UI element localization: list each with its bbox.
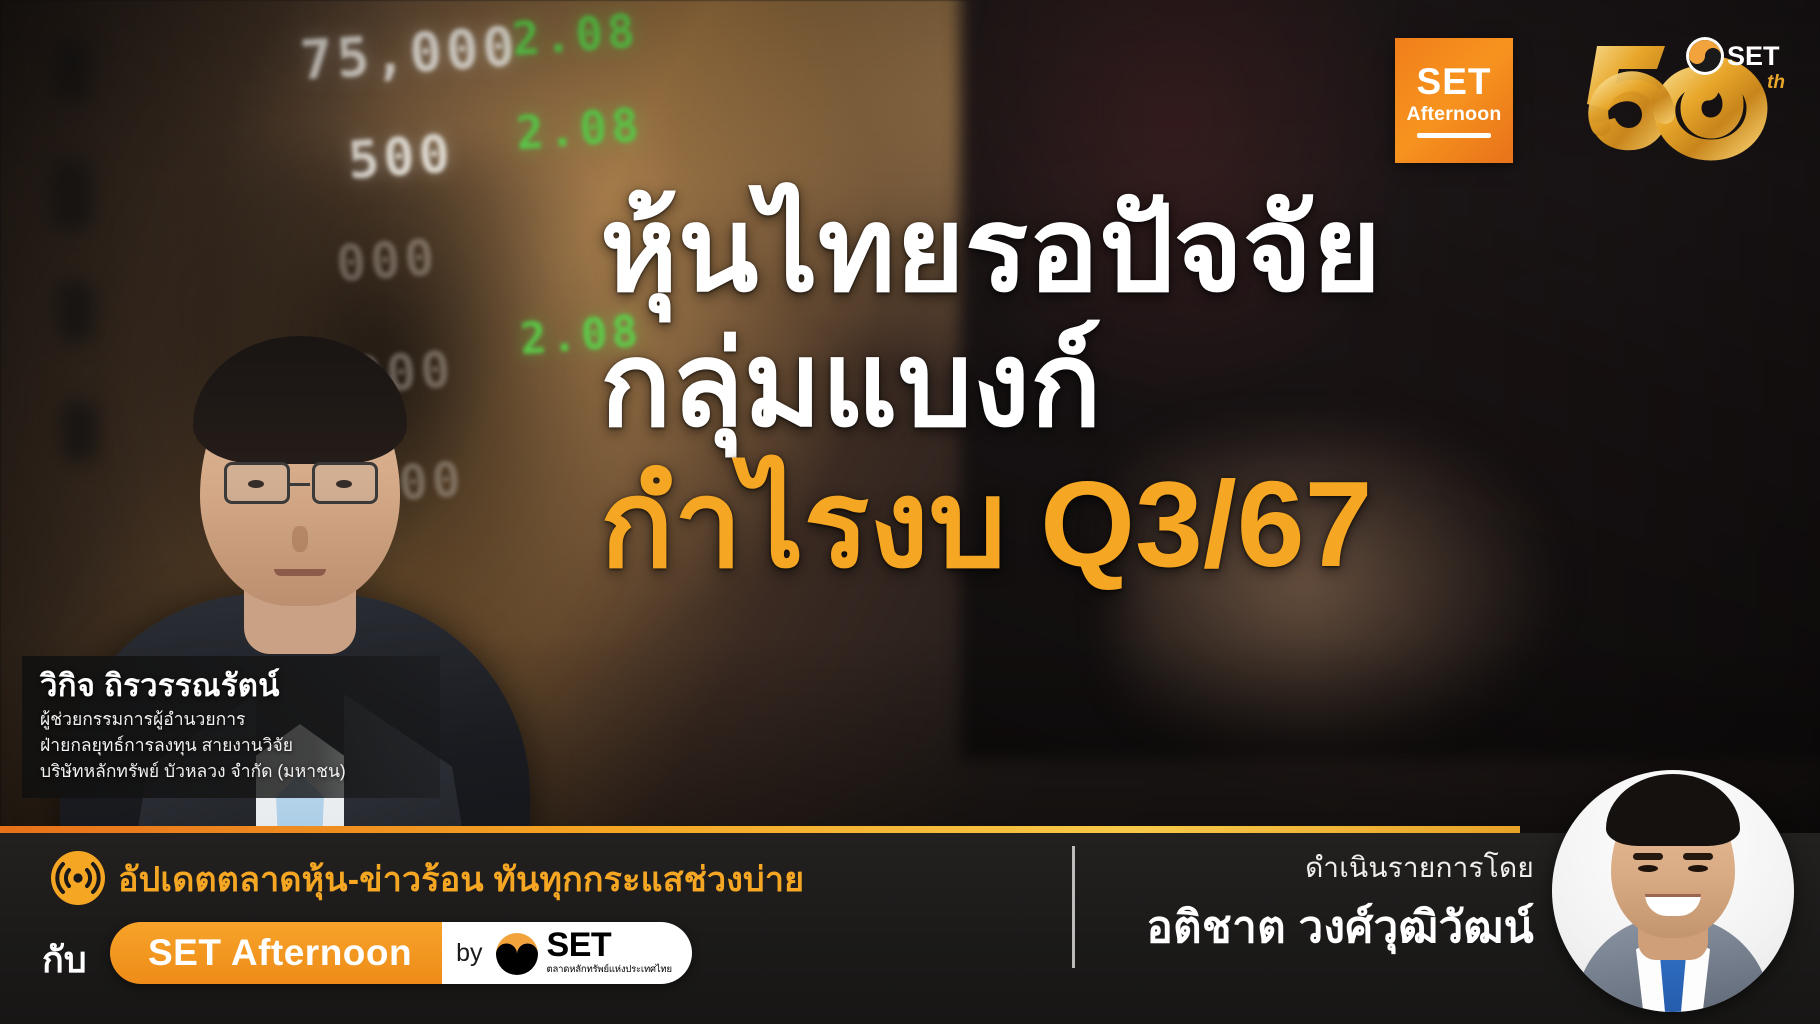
avatar-brow-left xyxy=(1633,853,1663,860)
headline-line-3: กำไรงบ Q3/67 xyxy=(600,460,1780,589)
set-attribution: by SET ตลาดหลักทรัพย์แห่งประเทศไทย xyxy=(442,922,692,984)
speaker-mouth xyxy=(274,569,326,576)
footer-gold-divider xyxy=(0,826,1520,833)
speaker-hair xyxy=(193,336,407,464)
avatar-eye-left xyxy=(1638,865,1658,872)
promo-graphic-canvas: 75,000 500 000 000 000 2.08 2.08 2.08 วิ… xyxy=(0,0,1820,1024)
svg-text:SET: SET xyxy=(1727,41,1780,71)
with-label: กับ xyxy=(42,931,87,988)
headline-line-1: หุ้นไทยรอปัจจัย xyxy=(600,188,1780,313)
host-avatar xyxy=(1552,770,1794,1012)
glasses-lens-right-icon xyxy=(312,462,378,504)
program-name: SET Afternoon xyxy=(148,932,412,974)
speaker-role-line-2: ฝ่ายกลยุทธ์การลงทุน สายงานวิจัย xyxy=(40,734,424,757)
host-by-label: ดำเนินรายการโดย xyxy=(1146,846,1534,890)
set-50th-anniversary-logo: SET th xyxy=(1545,22,1795,172)
program-name-badge: SET Afternoon xyxy=(110,922,442,984)
broadcast-wave-glyph xyxy=(50,850,106,906)
speaker-nose xyxy=(292,526,308,552)
speaker-nameplate: วิกิจ ถิรวรรณรัตน์ ผู้ช่วยกรรมการผู้อำนว… xyxy=(22,656,440,798)
svg-text:th: th xyxy=(1767,72,1785,93)
anniversary-50-icon: SET th xyxy=(1545,22,1795,172)
speaker-role-line-3: บริษัทหลักทรัพย์ บัวหลวง จำกัด (มหาชน) xyxy=(40,760,424,783)
set-afternoon-logo-rule xyxy=(1417,133,1491,138)
set-afternoon-logo: SET Afternoon xyxy=(1395,38,1513,163)
set-logo-subtitle: ตลาดหลักทรัพย์แห่งประเทศไทย xyxy=(547,962,672,977)
host-block: ดำเนินรายการโดย อติชาต วงศ์วุฒิวัฒน์ xyxy=(1146,846,1534,962)
speaker-role-line-1: ผู้ช่วยกรรมการผู้อำนวยการ xyxy=(40,708,424,731)
set-logo: SET ตลาดหลักทรัพย์แห่งประเทศไทย xyxy=(492,929,672,977)
set-afternoon-logo-set: SET xyxy=(1417,63,1492,100)
set-logo-wordmark: SET xyxy=(547,929,612,961)
speaker-name: วิกิจ ถิรวรรณรัตน์ xyxy=(40,668,424,705)
program-badge[interactable]: SET Afternoon by SET ตลาดหลักทรัพย์แห่งป… xyxy=(110,922,692,984)
glasses-bridge-icon xyxy=(290,483,310,486)
headline-block: หุ้นไทยรอปัจจัย กลุ่มแบงก์ กำไรงบ Q3/67 xyxy=(600,188,1780,589)
host-name: อติชาต วงศ์วุฒิวัฒน์ xyxy=(1146,892,1534,962)
by-label: by xyxy=(456,939,482,968)
glasses-lens-left-icon xyxy=(224,462,290,504)
broadcast-wave-icon xyxy=(50,850,106,906)
set-logo-text-block: SET ตลาดหลักทรัพย์แห่งประเทศไทย xyxy=(547,929,672,977)
footer-vertical-divider xyxy=(1072,846,1075,968)
set-sun-wave-icon xyxy=(492,929,542,977)
avatar-eye-right xyxy=(1688,865,1708,872)
avatar-brow-right xyxy=(1683,853,1713,860)
headline-line-2: กลุ่มแบงก์ xyxy=(600,323,1780,448)
promo-tagline: อัปเดตตลาดหุ้น-ข่าวร้อน ทันทุกกระแสช่วงบ… xyxy=(118,852,804,906)
set-afternoon-logo-afternoon: Afternoon xyxy=(1407,103,1502,126)
avatar-hair xyxy=(1606,774,1740,846)
